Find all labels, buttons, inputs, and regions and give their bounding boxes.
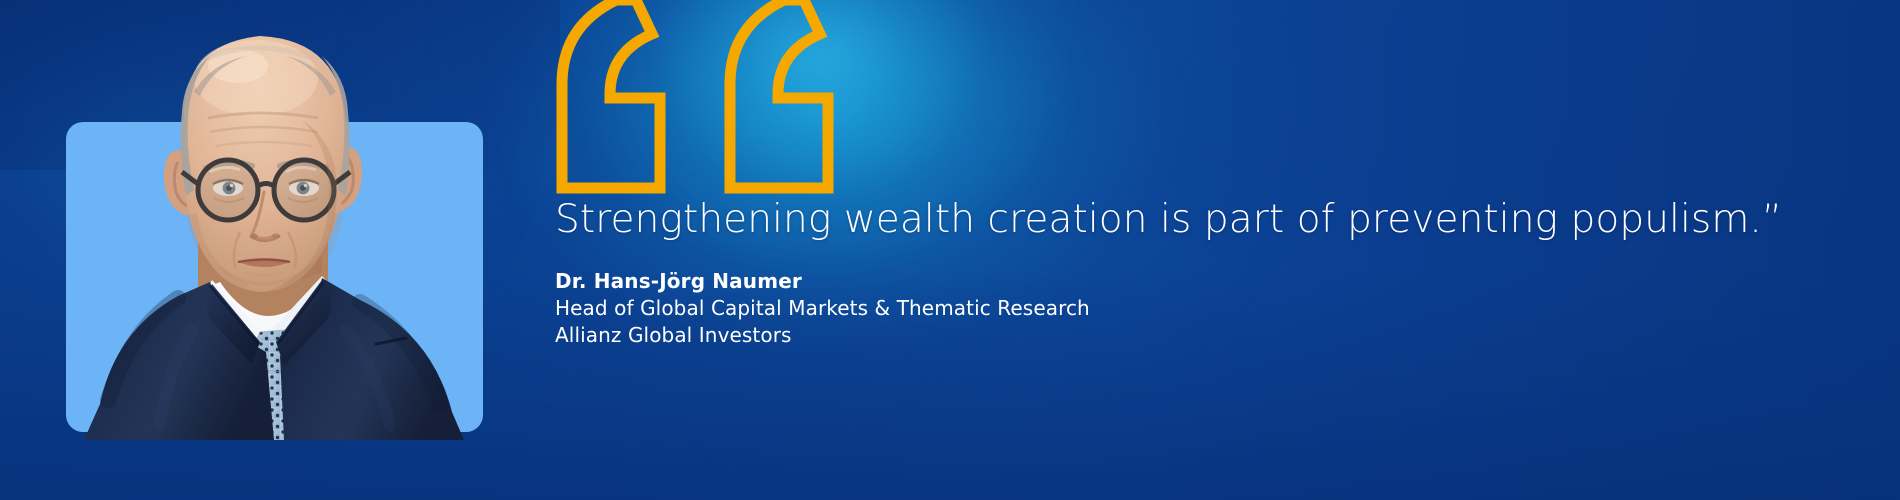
attribution-name: Dr. Hans-Jörg Naumer [555, 268, 1455, 295]
quote-banner: Strengthening wealth creation is part of… [0, 0, 1900, 500]
portrait-photo [60, 0, 480, 440]
quote-text: Strengthening wealth creation is part of… [555, 196, 1885, 244]
quote-text-column: Strengthening wealth creation is part of… [555, 0, 1885, 500]
portrait-block [0, 0, 520, 500]
attribution-role: Head of Global Capital Markets & Themati… [555, 295, 1455, 322]
attribution-block: Dr. Hans-Jörg Naumer Head of Global Capi… [555, 268, 1455, 349]
attribution-organization: Allianz Global Investors [555, 322, 1455, 349]
